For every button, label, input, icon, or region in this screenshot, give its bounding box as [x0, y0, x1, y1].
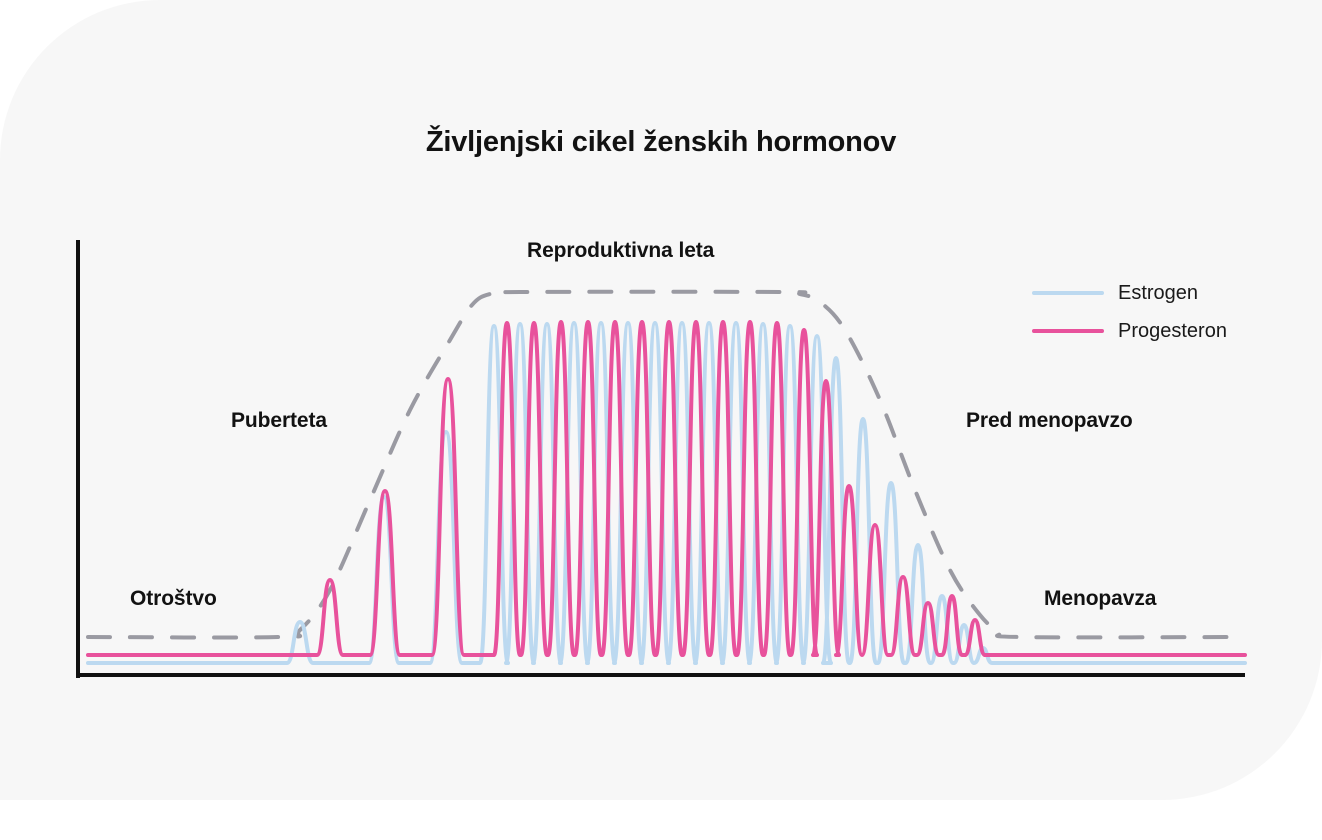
chart-legend: Estrogen Progesteron — [1032, 274, 1262, 350]
stage-label-childhood: Otroštvo — [130, 587, 217, 611]
legend-label-estrogen: Estrogen — [1118, 282, 1198, 305]
stage-label-puberty: Puberteta — [231, 409, 327, 433]
legend-item-progesteron: Progesteron — [1032, 312, 1262, 350]
infographic-root: Življenjski cikel ženskih hormonov Otroš… — [0, 0, 1322, 840]
legend-item-estrogen: Estrogen — [1032, 274, 1262, 312]
stage-label-premenopause: Pred menopavzo — [966, 409, 1133, 433]
stage-label-menopause: Menopavza — [1044, 587, 1156, 611]
legend-swatch-estrogen-icon — [1032, 291, 1104, 295]
stage-label-reproductive-years: Reproduktivna leta — [527, 239, 714, 263]
legend-label-progesteron: Progesteron — [1118, 320, 1227, 343]
legend-swatch-progesteron-icon — [1032, 329, 1104, 333]
